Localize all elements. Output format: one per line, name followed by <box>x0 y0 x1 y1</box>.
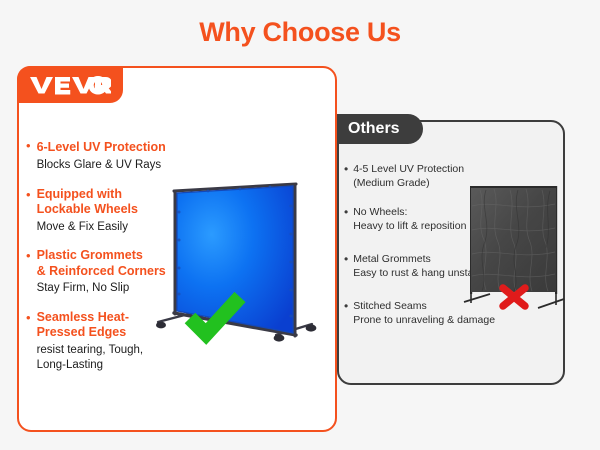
others-item-line2: Heavy to lift & reposition <box>353 220 466 234</box>
bullet-icon: • <box>26 187 31 236</box>
list-item: • Plastic Grommets & Reinforced Corners … <box>26 248 231 297</box>
vevor-item-sub-line1: resist tearing, Tough, <box>37 343 144 359</box>
bullet-icon: • <box>344 253 348 280</box>
vevor-item-sub-line2: Long-Lasting <box>37 358 144 374</box>
page-title: Why Choose Us <box>0 17 600 48</box>
bullet-icon: • <box>26 248 31 297</box>
vevor-list: • 6-Level UV Protection Blocks Glare & U… <box>26 138 231 387</box>
bullet-icon: • <box>26 310 31 374</box>
bullet-icon: • <box>344 163 348 190</box>
vevor-item-heading-line1: Plastic Grommets <box>37 248 166 264</box>
others-tab-label: Others <box>348 120 400 138</box>
vevor-logo <box>29 74 111 96</box>
vevor-item-heading-line2: Lockable Wheels <box>37 202 138 218</box>
vevor-item-sub: Move & Fix Easily <box>37 220 138 236</box>
bullet-icon: • <box>344 300 348 327</box>
vevor-item-heading: 6-Level UV Protection <box>37 140 166 154</box>
vevor-item-heading-line1: Seamless Heat- <box>37 310 144 326</box>
vevor-item-body: Equipped with Lockable Wheels Move & Fix… <box>37 187 138 236</box>
black-welding-curtain-image <box>460 178 570 328</box>
bullet-icon: • <box>26 138 31 174</box>
others-item-text: No Wheels: Heavy to lift & reposition <box>353 206 466 233</box>
vevor-brand-tab <box>17 66 123 103</box>
others-item-line2: (Medium Grade) <box>353 177 464 191</box>
vevor-item-body: Seamless Heat- Pressed Edges resist tear… <box>37 310 144 374</box>
list-item: • 6-Level UV Protection Blocks Glare & U… <box>26 138 231 174</box>
vevor-item-body: 6-Level UV Protection Blocks Glare & UV … <box>37 138 166 174</box>
vevor-item-heading-line2: Pressed Edges <box>37 325 144 341</box>
vevor-item-heading-line1: Equipped with <box>37 187 138 203</box>
list-item: • Seamless Heat- Pressed Edges resist te… <box>26 310 231 374</box>
others-item-text: 4-5 Level UV Protection (Medium Grade) <box>353 163 464 190</box>
others-item-line1: No Wheels: <box>353 206 466 220</box>
bullet-icon: • <box>344 206 348 233</box>
vevor-item-sub: Blocks Glare & UV Rays <box>37 158 166 174</box>
others-item-line1: 4-5 Level UV Protection <box>353 163 464 177</box>
others-tab: Others <box>337 114 423 144</box>
vevor-item-body: Plastic Grommets & Reinforced Corners St… <box>37 248 166 297</box>
vevor-item-sub: Stay Firm, No Slip <box>37 281 166 297</box>
list-item: • Equipped with Lockable Wheels Move & F… <box>26 187 231 236</box>
vevor-item-heading-line2: & Reinforced Corners <box>37 264 166 280</box>
